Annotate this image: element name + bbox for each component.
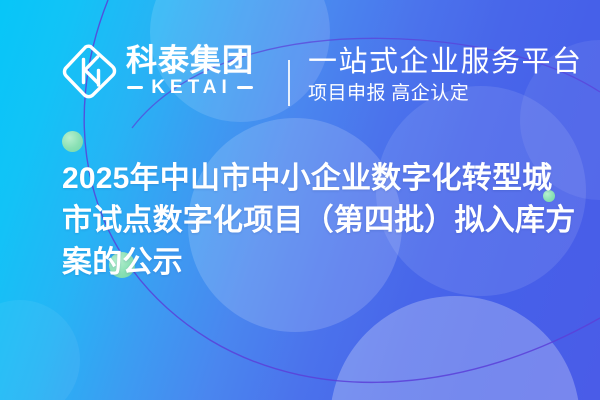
tagline-sub-text: 项目申报 高企认定 <box>308 83 588 106</box>
logo-rule-left-icon <box>127 86 143 89</box>
logo-company-name-cn: 科泰集团 <box>126 45 254 78</box>
logo-rule-right-icon <box>237 86 253 89</box>
banner-header: 科泰集团 KETAI 一站式企业服务平台 项目申报 高企认定 <box>0 0 600 130</box>
header-tagline: 一站式企业服务平台 项目申报 高企认定 <box>308 46 588 106</box>
ketai-diamond-k-logo-icon <box>60 40 120 102</box>
announcement-banner: 科泰集团 KETAI 一站式企业服务平台 项目申报 高企认定 2025年中山市中… <box>0 0 600 400</box>
green-dot-decoration-1 <box>62 131 83 152</box>
logo-en-row: KETAI <box>127 78 253 97</box>
page-title: 2025年中山市中小企业数字化转型城市试点数字化项目（第四批）拟入库方案的公示 <box>62 158 582 284</box>
logo-company-name-en: KETAI <box>148 78 232 97</box>
circle-decoration-bottom-right <box>330 296 580 400</box>
header-vertical-divider <box>288 60 290 106</box>
ketai-logo[interactable]: 科泰集团 KETAI <box>60 40 254 102</box>
circle-decoration-bottom-left <box>0 300 80 400</box>
ketai-logo-wordmark: 科泰集团 KETAI <box>126 45 254 98</box>
tagline-main-text: 一站式企业服务平台 <box>308 46 588 79</box>
